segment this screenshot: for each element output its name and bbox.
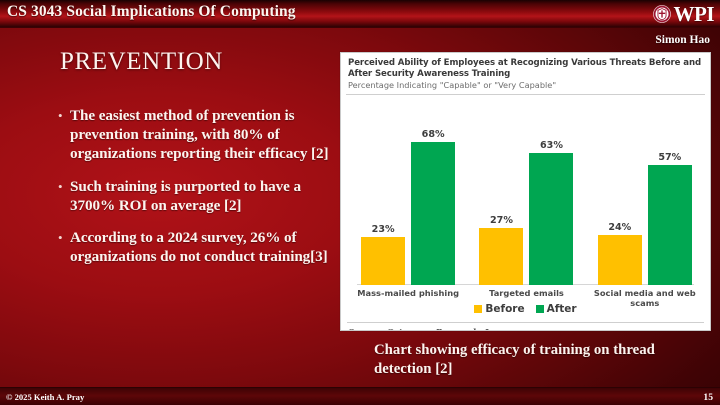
- chart-legend-item: Before: [474, 303, 524, 315]
- page-title: PREVENTION: [60, 48, 223, 76]
- chart-bar-group: 24%57%: [586, 95, 704, 285]
- chart-bar-group: 23%68%: [349, 95, 467, 285]
- chart-source: Source: Osterman Research, Inc.: [341, 323, 710, 331]
- chart-category-label: Mass-mailed phishing: [349, 288, 467, 298]
- chart-panel: Perceived Ability of Employees at Recogn…: [340, 52, 711, 331]
- chart-legend-label: After: [547, 303, 577, 315]
- chart-bar-value-label: 23%: [361, 224, 405, 235]
- chart-bar-value-label: 68%: [411, 129, 455, 140]
- chart-legend-swatch: [536, 305, 544, 313]
- list-item: • Such training is purported to have a 3…: [56, 177, 336, 215]
- slide-footer-bar: [0, 387, 720, 405]
- chart-bar: 24%: [598, 95, 642, 285]
- page-number: 15: [703, 392, 713, 403]
- chart-legend-label: Before: [485, 303, 524, 315]
- presenter-name: Simon Hao: [655, 34, 710, 46]
- chart-bar-value-label: 63%: [529, 140, 573, 151]
- chart-title: Perceived Ability of Employees at Recogn…: [348, 58, 703, 79]
- chart-bar: 68%: [411, 95, 455, 285]
- bullet-text: Such training is purported to have a 370…: [70, 177, 336, 215]
- chart-bar-value-label: 27%: [479, 215, 523, 226]
- chart-bar: 63%: [529, 95, 573, 285]
- bullet-text: The easiest method of prevention is prev…: [70, 106, 336, 164]
- chart-legend-swatch: [474, 305, 482, 313]
- list-item: • The easiest method of prevention is pr…: [56, 106, 336, 164]
- chart-bar-rect: [411, 142, 455, 285]
- chart-bar: 27%: [479, 95, 523, 285]
- slide-canvas: CS 3043 Social Implications Of Computing…: [0, 0, 720, 405]
- chart-plot-area: 23%68%27%63%24%57%: [349, 95, 702, 285]
- list-item: • According to a 2024 survey, 26% of org…: [56, 228, 336, 266]
- bullet-text: According to a 2024 survey, 26% of organ…: [70, 228, 336, 266]
- chart-category-label: Social media and web scams: [586, 288, 704, 308]
- chart-bar-rect: [598, 235, 642, 285]
- chart-header: Perceived Ability of Employees at Recogn…: [341, 53, 710, 91]
- chart-bar-group: 27%63%: [467, 95, 585, 285]
- slide-header-bar: CS 3043 Social Implications Of Computing…: [0, 0, 720, 28]
- bullet-marker-icon: •: [56, 228, 70, 266]
- bullet-list: • The easiest method of prevention is pr…: [56, 106, 336, 279]
- chart-bar: 23%: [361, 95, 405, 285]
- chart-bar-rect: [361, 237, 405, 285]
- course-title: CS 3043 Social Implications Of Computing: [7, 3, 296, 21]
- chart-subtitle: Percentage Indicating "Capable" or "Very…: [348, 80, 703, 91]
- chart-bar-rect: [529, 153, 573, 285]
- chart-category-axis: Mass-mailed phishingTargeted emailsSocia…: [349, 285, 702, 301]
- wpi-seal-icon: [653, 5, 671, 23]
- wpi-logo: WPI: [653, 0, 715, 28]
- chart-caption: Chart showing efficacy of training on th…: [374, 341, 694, 378]
- bullet-marker-icon: •: [56, 177, 70, 215]
- copyright-text: © 2025 Keith A. Pray: [6, 392, 84, 402]
- chart-bar-value-label: 24%: [598, 222, 642, 233]
- wpi-logo-text: WPI: [674, 4, 715, 25]
- chart-category-label: Targeted emails: [467, 288, 585, 298]
- chart-bar: 57%: [648, 95, 692, 285]
- chart-legend-item: After: [536, 303, 577, 315]
- bullet-marker-icon: •: [56, 106, 70, 164]
- chart-bar-rect: [648, 165, 692, 285]
- chart-bar-rect: [479, 228, 523, 285]
- chart-bar-value-label: 57%: [648, 152, 692, 163]
